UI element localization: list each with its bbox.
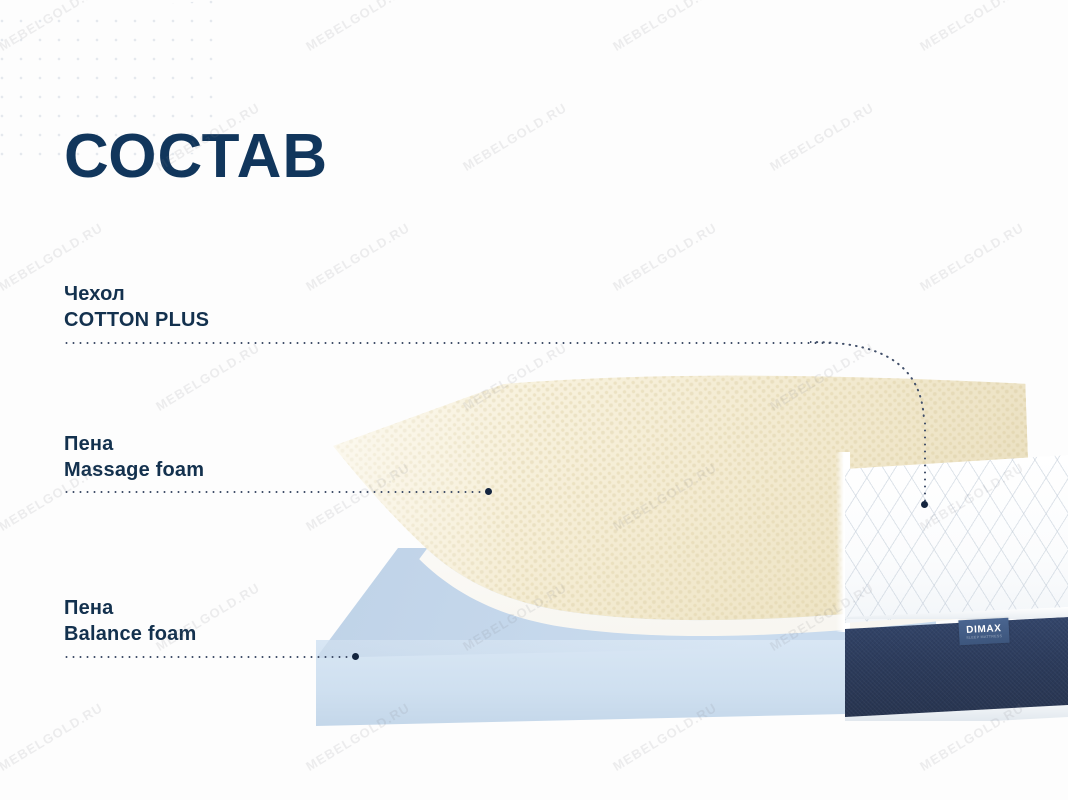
cotton-plus-cover-panel [845, 455, 1068, 623]
leader-dot-massage-foam [485, 488, 492, 495]
callout-cover: Чехол COTTON PLUS [64, 281, 209, 333]
dimax-brand-tag: DIMAX SLEEP MATTRESS [958, 618, 1009, 646]
callout-cover-line2: COTTON PLUS [64, 307, 209, 333]
leader-dot-cover [921, 501, 928, 508]
leader-line-cover [63, 342, 833, 344]
callout-massage-line2: Massage foam [64, 457, 204, 483]
dimax-brand-subtitle: SLEEP MATTRESS [966, 634, 1002, 641]
leader-line-cover-vertical [924, 420, 926, 506]
leader-line-balance-foam [63, 656, 355, 658]
page-title: СОСТАВ [64, 126, 328, 188]
callout-balance-line2: Balance foam [64, 621, 196, 647]
callout-cover-line1: Чехол [64, 281, 209, 307]
callout-balance-foam: Пена Balance foam [64, 595, 196, 647]
leader-line-massage-foam [63, 491, 488, 493]
callout-massage-line1: Пена [64, 431, 204, 457]
leader-line-cover-curve [810, 341, 928, 431]
illustration-canvas: DIMAX SLEEP MATTRESS СОСТАВ Чехол COTTON… [0, 0, 1068, 800]
side-border-fabric [845, 617, 1068, 722]
callout-balance-line1: Пена [64, 595, 196, 621]
leader-dot-balance-foam [352, 653, 359, 660]
callout-massage-foam: Пена Massage foam [64, 431, 204, 483]
